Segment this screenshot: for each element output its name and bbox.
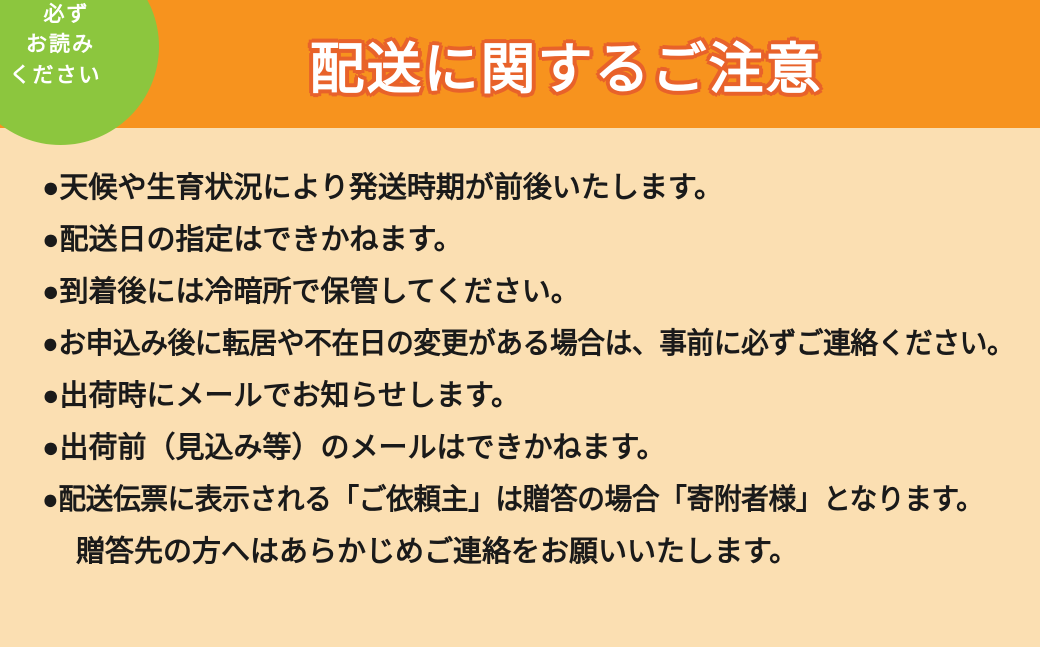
badge-line-1: 必ず <box>44 0 90 30</box>
notice-item: ●配送伝票に表示される「ご依頼主」は贈答の場合「寄附者様」となります。 <box>42 486 980 515</box>
notice-list: ●天候や生育状況により発送時期が前後いたします。 ●配送日の指定はできかねます。… <box>0 128 1040 647</box>
badge-line-3: ください <box>10 61 102 91</box>
notice-item-continuation: 贈答先の方へはあらかじめご連絡をお願いいたします。 <box>76 538 1024 567</box>
shipping-notice-banner: 配送に関するご注意 必ず お読み ください ●天候や生育状況により発送時期が前後… <box>0 0 1040 647</box>
notice-item: ●天候や生育状況により発送時期が前後いたします。 <box>42 174 1024 203</box>
notice-item: ●到着後には冷暗所で保管してください。 <box>42 278 1024 307</box>
badge-line-2: お読み <box>26 30 95 60</box>
notice-item: ●配送日の指定はできかねます。 <box>42 226 1024 255</box>
notice-item: ●出荷前（見込み等）のメールはできかねます。 <box>42 434 1024 463</box>
notice-item: ●お申込み後に転居や不在日の変更がある場合は、事前に必ずご連絡ください。 <box>42 330 980 359</box>
must-read-badge-text: 必ず お読み ください <box>0 0 159 91</box>
notice-item: ●出荷時にメールでお知らせします。 <box>42 382 1024 411</box>
